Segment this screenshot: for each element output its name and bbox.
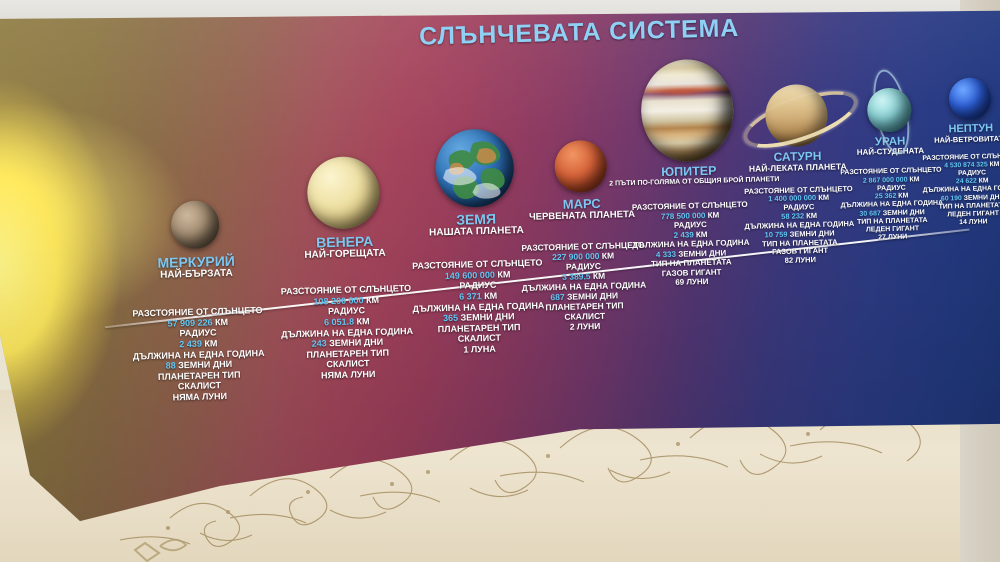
planet-body-neptune — [948, 77, 991, 120]
unit-days: ЗЕМНИ ДНИ — [964, 193, 1000, 201]
planet-body-jupiter — [640, 58, 735, 162]
planet-body-saturn-wrap — [765, 84, 829, 148]
unit-km: КМ — [484, 291, 497, 301]
unit-km: КМ — [356, 316, 369, 326]
fact-value-distance: 108 200 000 — [313, 295, 363, 306]
unit-km: КМ — [898, 193, 908, 200]
unit-km: КМ — [593, 270, 606, 280]
fact-value-distance: 57 909 226 — [167, 317, 212, 328]
fact-value-radius: 25 362 — [875, 193, 897, 201]
unit-days: ЗЕМНИ ДНИ — [178, 359, 232, 370]
planet-body-mars-wrap — [554, 140, 607, 193]
fact-value-year: 365 — [443, 313, 458, 323]
fact-value-year: 687 — [550, 292, 564, 302]
fact-value-radius: 24 622 — [956, 178, 977, 186]
fact-value-distance: 149 600 000 — [445, 270, 495, 281]
fact-value-distance: 2 867 000 000 — [863, 176, 908, 184]
planet-body-jupiter-wrap — [640, 58, 735, 162]
fact-value-radius: 2 439 — [179, 339, 202, 350]
fact-value-radius: 3 389.5 — [562, 271, 591, 282]
fact-value-year: 243 — [312, 339, 327, 349]
unit-km: КМ — [215, 317, 228, 327]
unit-km: КМ — [806, 211, 817, 220]
planet-body-venus — [306, 156, 380, 230]
planet-body-mercury — [171, 200, 220, 249]
unit-km: КМ — [708, 211, 720, 220]
fact-value-radius: 6 051.8 — [324, 317, 354, 328]
unit-km: КМ — [696, 230, 708, 239]
unit-km: КМ — [204, 338, 217, 348]
fact-value-year: 88 — [166, 361, 176, 371]
planet-body-mercury-wrap — [171, 200, 220, 249]
planet-body-uranus-wrap — [867, 87, 912, 132]
fact-value-year: 60 190 — [941, 195, 962, 203]
fact-value-year: 10 759 — [764, 230, 787, 240]
page-title: СЛЪНЧЕВАТА СИСТЕМА — [399, 13, 760, 52]
fact-value-year: 4 333 — [656, 249, 676, 259]
fact-value-year: 30 687 — [859, 210, 881, 218]
unit-days: ЗЕМНИ ДНИ — [329, 337, 383, 348]
unit-km: КМ — [990, 161, 1000, 168]
fact-value-radius: 2 439 — [674, 230, 694, 240]
room-scene: СЛЪНЧЕВАТА СИСТЕМА МЕРКУРИЙ НАЙ-БЪРЗАТА … — [0, 0, 1000, 562]
planet-column-neptune[interactable]: НЕПТУН НАЙ-ВЕТРОВИТАТА РАЗСТОЯНИЕ ОТ СЛЪ… — [912, 132, 1000, 228]
planet-body-neptune-wrap — [948, 77, 991, 120]
planet-body-venus-wrap — [306, 156, 380, 230]
fact-value-radius: 6 371 — [459, 291, 482, 302]
unit-km: КМ — [366, 295, 379, 305]
unit-km: КМ — [979, 178, 989, 185]
planet-body-mars — [554, 140, 607, 193]
planet-facts-neptune: РАЗСТОЯНИЕ ОТ СЛЪНЦЕТО 4 530 874 325 КМ … — [913, 153, 1000, 228]
